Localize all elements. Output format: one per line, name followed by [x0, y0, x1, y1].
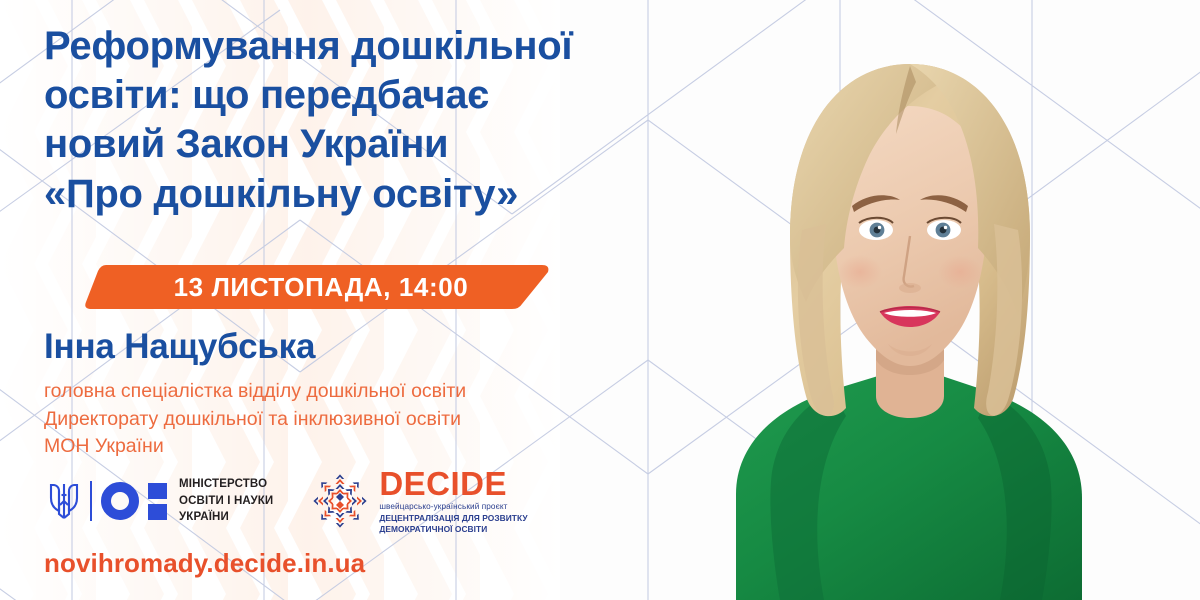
date-banner-text: 13 ЛИСТОПАДА, 14:00	[72, 263, 564, 311]
title-line-3: новий Закон України	[44, 120, 774, 169]
speaker-name: Інна Нащубська	[44, 327, 315, 367]
website-url[interactable]: novihromady.decide.in.ua	[44, 548, 365, 579]
decide-tagline: швейцарсько-український проєкт	[379, 502, 527, 513]
speaker-role-line-1: головна спеціалістка відділу дошкільної …	[44, 378, 466, 406]
speaker-role-line-3: МОН України	[44, 433, 466, 461]
ukraine-trident-icon	[47, 478, 81, 524]
speaker-role-line-2: Директорату дошкільної та інклюзивної ос…	[44, 406, 466, 434]
mon-o-icon	[101, 482, 139, 520]
decide-subtitle-line-2: ДЕМОКРАТИЧНОЇ ОСВІТИ	[379, 524, 527, 535]
decide-starburst-icon	[309, 470, 371, 532]
decide-text-block: DECIDE швейцарсько-український проєкт ДЕ…	[379, 467, 527, 535]
mon-text-line-2: ОСВІТИ І НАУКИ	[179, 493, 273, 510]
mon-colon-icon	[148, 483, 167, 520]
mon-logo[interactable]: МІНІСТЕРСТВО ОСВІТИ І НАУКИ УКРАЇНИ	[47, 476, 273, 526]
mon-logo-text: МІНІСТЕРСТВО ОСВІТИ І НАУКИ УКРАЇНИ	[179, 476, 273, 526]
speaker-photo	[728, 24, 1088, 600]
title-line-4: «Про дошкільну освіту»	[44, 170, 774, 219]
decide-logo[interactable]: DECIDE швейцарсько-український проєкт ДЕ…	[309, 467, 527, 535]
date-time-banner: 13 ЛИСТОПАДА, 14:00	[72, 263, 564, 311]
mon-logo-mark	[47, 478, 167, 524]
decide-wordmark: DECIDE	[379, 467, 527, 500]
decide-subtitle: ДЕЦЕНТРАЛІЗАЦІЯ ДЛЯ РОЗВИТКУ ДЕМОКРАТИЧН…	[379, 513, 527, 535]
announcement-banner: Реформування дошкільної освіти: що перед…	[0, 0, 1200, 600]
decide-subtitle-line-1: ДЕЦЕНТРАЛІЗАЦІЯ ДЛЯ РОЗВИТКУ	[379, 513, 527, 524]
mon-text-line-1: МІНІСТЕРСТВО	[179, 476, 273, 493]
title-line-2: освіти: що передбачає	[44, 71, 774, 120]
logo-row: МІНІСТЕРСТВО ОСВІТИ І НАУКИ УКРАЇНИ	[47, 465, 528, 537]
mon-logo-divider	[90, 481, 92, 521]
title-line-1: Реформування дошкільної	[44, 22, 774, 71]
speaker-role: головна спеціалістка відділу дошкільної …	[44, 378, 466, 461]
page-title: Реформування дошкільної освіти: що перед…	[44, 22, 774, 219]
content-column: Реформування дошкільної освіти: що перед…	[44, 0, 764, 600]
mon-text-line-3: УКРАЇНИ	[179, 509, 273, 526]
